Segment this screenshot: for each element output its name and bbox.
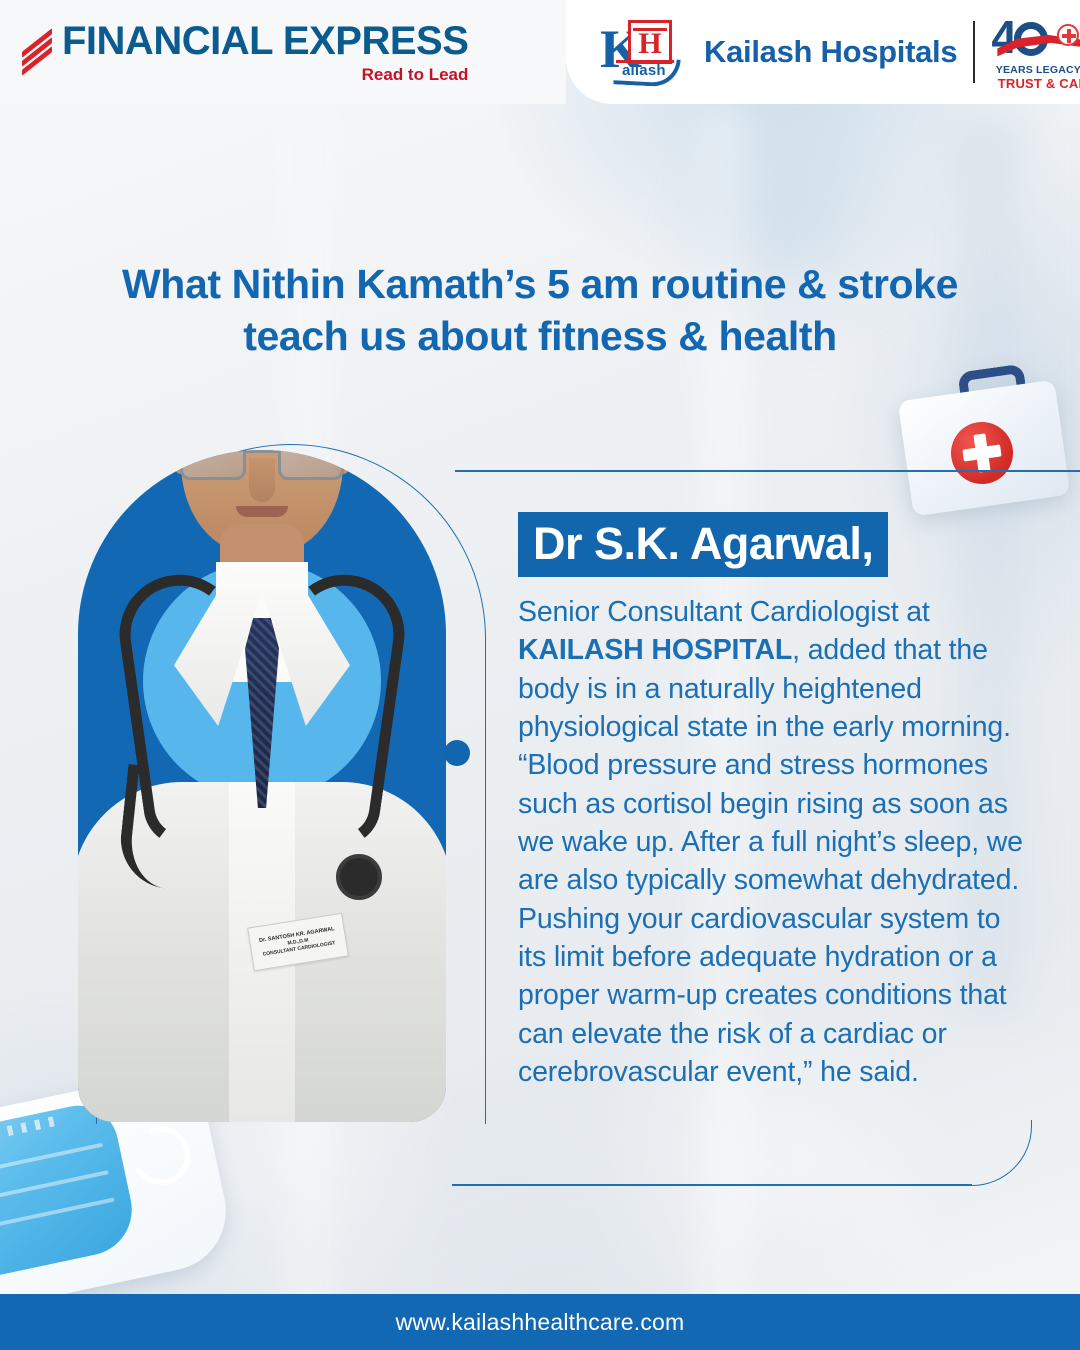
glasses-lens bbox=[180, 450, 246, 480]
decorative-dot bbox=[444, 740, 470, 766]
stethoscope-bell-icon bbox=[336, 854, 382, 900]
publisher-name: FINANCIAL EXPRESS bbox=[62, 21, 468, 61]
doctor-name-banner: Dr S.K. Agarwal, bbox=[518, 512, 888, 577]
quote-text: Senior Consultant Cardiologist at KAILAS… bbox=[518, 593, 1030, 1091]
publisher-tagline: Read to Lead bbox=[62, 66, 468, 83]
anniversary-line2: TRUST & CARE bbox=[991, 76, 1080, 91]
glasses-lens bbox=[278, 450, 344, 480]
header: FINANCIAL EXPRESS Read to Lead K H ailas… bbox=[0, 0, 1080, 104]
doctor-nose bbox=[249, 458, 275, 502]
anniversary-four: 4 bbox=[991, 11, 1014, 63]
headline: What Nithin Kamath’s 5 am routine & stro… bbox=[0, 258, 1080, 363]
website-url[interactable]: www.kailashhealthcare.com bbox=[396, 1309, 685, 1336]
fe-diamond-icon bbox=[22, 35, 52, 69]
footer-bar: www.kailashhealthcare.com bbox=[0, 1294, 1080, 1350]
glasses-bridge bbox=[246, 450, 278, 453]
quote-rest: , added that the body is in a naturally … bbox=[518, 634, 1023, 1088]
first-aid-kit-icon bbox=[905, 368, 1067, 508]
doctor-photo: Dr. SANTOSH KR. AGARWAL M.D.,D.M CONSULT… bbox=[78, 450, 446, 1122]
publisher-text: FINANCIAL EXPRESS Read to Lead bbox=[62, 21, 468, 83]
quote-block: Dr S.K. Agarwal, Senior Consultant Cardi… bbox=[518, 512, 1030, 1091]
kailash-kh-icon: K H ailash bbox=[600, 18, 692, 86]
hospital-name: Kailash Hospitals bbox=[704, 34, 957, 70]
decorative-line-bottom bbox=[452, 1184, 972, 1186]
hospital-logo-panel: K H ailash Kailash Hospitals 4 YEARS LEG… bbox=[566, 0, 1080, 104]
mask-pleat bbox=[0, 1198, 115, 1246]
anniversary-line1: YEARS LEGACY OF bbox=[991, 64, 1080, 76]
kh-word-ailash: ailash bbox=[622, 62, 666, 79]
anniversary-badge: 4 YEARS LEGACY OF TRUST & CARE bbox=[991, 14, 1080, 90]
publisher-logo: FINANCIAL EXPRESS Read to Lead bbox=[0, 0, 566, 104]
decorative-line-top bbox=[455, 470, 1080, 472]
quote-hospital-bold: KAILASH HOSPITAL bbox=[518, 634, 792, 666]
doctor-figure: Dr. SANTOSH KR. AGARWAL M.D.,D.M CONSULT… bbox=[78, 562, 446, 1122]
doctor-mouth bbox=[236, 506, 288, 517]
quote-intro: Senior Consultant Cardiologist at bbox=[518, 596, 930, 628]
header-divider bbox=[973, 21, 975, 83]
